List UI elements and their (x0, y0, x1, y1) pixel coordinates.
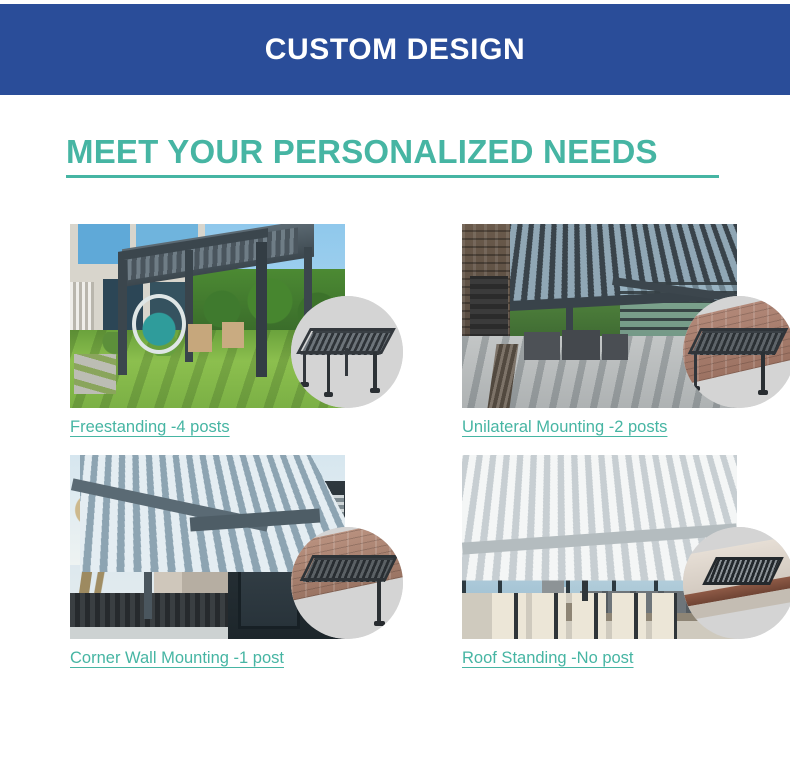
photo-wrap (70, 216, 403, 408)
diagram-canvas (291, 527, 403, 639)
diagram-post (345, 348, 348, 376)
custom-design-banner: CUSTOM DESIGN (0, 4, 790, 95)
hanging-swing-chair (132, 294, 186, 354)
card-row: Corner Wall Mounting -1 post (0, 447, 790, 668)
diagram-post-foot (374, 621, 385, 626)
diagram-post-foot (370, 388, 380, 393)
card-caption[interactable]: Corner Wall Mounting -1 post (70, 649, 284, 668)
design-option-card-corner-wall[interactable]: Corner Wall Mounting -1 post (70, 447, 403, 668)
diagram-post (761, 352, 765, 392)
photo-wrap (462, 447, 790, 639)
patio-chair (222, 322, 244, 348)
design-option-card-roof-standing[interactable]: Roof Standing -No post (462, 447, 790, 668)
heading-underline (66, 175, 719, 178)
diagram-post-foot (300, 382, 309, 387)
page-title: MEET YOUR PERSONALIZED NEEDS (66, 133, 658, 171)
freestanding-4-post-diagram (291, 296, 403, 408)
photo-wrap (462, 216, 790, 408)
patio-chair (188, 324, 212, 352)
diagram-post (373, 352, 377, 390)
diagram-canvas (291, 296, 403, 408)
design-option-card-freestanding[interactable]: Freestanding -4 posts (70, 216, 403, 437)
diagram-post (377, 579, 381, 623)
card-caption[interactable]: Unilateral Mounting -2 posts (462, 418, 667, 437)
pergola-post (118, 260, 127, 375)
diagram-post-foot (324, 392, 333, 397)
pergola-post (256, 242, 267, 377)
canopy-frame (300, 555, 399, 581)
design-option-card-unilateral[interactable]: Unilateral Mounting -2 posts (462, 216, 790, 437)
diagram-canvas (683, 527, 790, 639)
window-shutter (70, 282, 94, 334)
photo-wrap (70, 447, 403, 639)
stone-path (74, 354, 116, 394)
diagram-post (327, 354, 330, 394)
corner-wall-1-post-diagram (291, 527, 403, 639)
outdoor-sofa (562, 330, 600, 360)
unilateral-2-post-diagram (683, 296, 790, 408)
louvre-canopy (702, 557, 784, 585)
banner-title: CUSTOM DESIGN (265, 33, 526, 67)
roof-standing-no-post-diagram (683, 527, 790, 639)
design-options-grid: Freestanding -4 posts (0, 216, 790, 678)
outdoor-sofa (602, 334, 628, 360)
diagram-post (303, 351, 306, 383)
diagram-canvas (683, 296, 790, 408)
card-caption[interactable]: Freestanding -4 posts (70, 418, 230, 437)
diagram-post-foot (691, 386, 700, 391)
card-row: Freestanding -4 posts (0, 216, 790, 437)
diagram-post (694, 352, 697, 388)
diagram-post-foot (758, 390, 768, 395)
canopy-frame (688, 328, 789, 354)
card-caption[interactable]: Roof Standing -No post (462, 649, 634, 668)
outdoor-sofa (524, 332, 560, 360)
